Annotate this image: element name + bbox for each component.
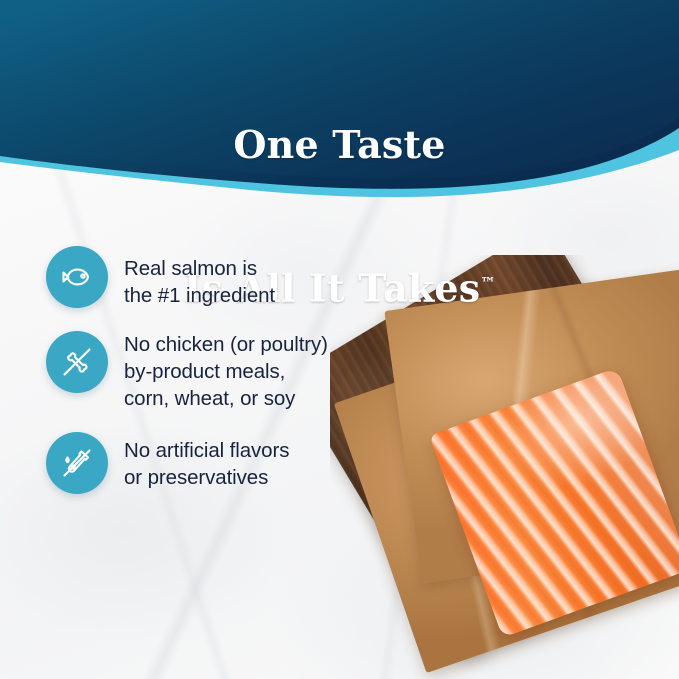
trademark-symbol: ™ bbox=[480, 274, 495, 292]
header-banner: One Taste Is All It Takes™ bbox=[0, 0, 679, 200]
fish-icon bbox=[46, 246, 108, 308]
promo-graphic: One Taste Is All It Takes™ Real salmon i… bbox=[0, 0, 679, 679]
list-item-label: No chicken (or poultry) by-product meals… bbox=[124, 331, 328, 412]
no-bone-icon bbox=[46, 331, 108, 393]
list-item: No artificial flavors or preservatives bbox=[46, 432, 406, 494]
list-item-label: Real salmon is the #1 ingredient bbox=[124, 246, 275, 309]
title-line-1: One Taste bbox=[0, 122, 679, 168]
list-item: Real salmon is the #1 ingredient bbox=[46, 246, 406, 309]
list-item: No chicken (or poultry) by-product meals… bbox=[46, 331, 406, 412]
list-item-label: No artificial flavors or preservatives bbox=[124, 432, 289, 491]
feature-list: Real salmon is the #1 ingredient No chic… bbox=[46, 246, 406, 516]
no-test-tube-icon bbox=[46, 432, 108, 494]
